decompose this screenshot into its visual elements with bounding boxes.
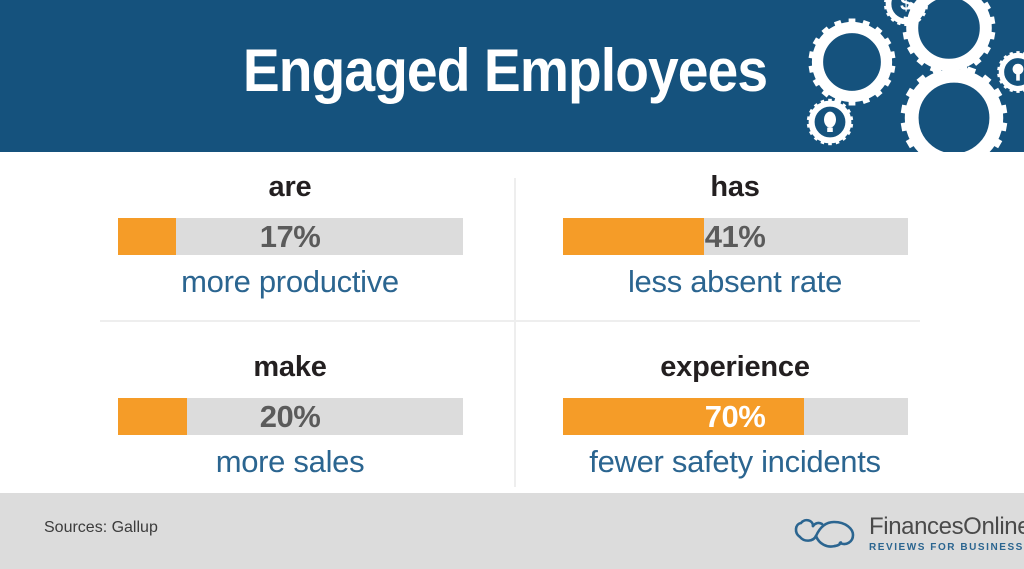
- stat-verb: experience: [530, 350, 940, 384]
- stat-description: more productive: [85, 263, 495, 301]
- gear-key-icon: [997, 51, 1024, 93]
- logo-wordmark: FinancesOnline REVIEWS FOR BUSINESS: [869, 513, 1003, 554]
- stat-value-label: 20%: [118, 398, 463, 435]
- stat-value-label: 17%: [118, 218, 463, 255]
- sources-note: Sources: Gallup: [44, 517, 158, 539]
- grid-divider-horizontal: [100, 320, 920, 322]
- stat-value-label: 41%: [563, 218, 908, 255]
- stat-card-less-absent-rate: has 41% less absent rate: [530, 170, 940, 301]
- header-banner: Engaged Employees: [0, 0, 1024, 152]
- stat-description: more sales: [85, 443, 495, 481]
- gear-lightbulb-icon: [807, 99, 853, 145]
- stats-grid: are 17% more productive has 41% less abs…: [0, 152, 1024, 493]
- gear-icon: [809, 19, 896, 106]
- stat-card-more-sales: make 20% more sales: [85, 350, 495, 481]
- footer-bar: Sources: Gallup FinancesOnline REVIEWS F…: [0, 493, 1024, 569]
- stat-progress-bar: 17%: [118, 218, 463, 255]
- gear-decoration-group: $: [794, 0, 1024, 152]
- logo-tagline: REVIEWS FOR BUSINESS: [869, 541, 1003, 554]
- logo-name: FinancesOnline: [869, 513, 1003, 540]
- stat-progress-bar: 70%: [563, 398, 908, 435]
- stat-description: fewer safety incidents: [530, 443, 940, 481]
- stat-verb: are: [85, 170, 495, 204]
- cloud-infinity-logo-icon: [793, 515, 865, 553]
- gear-dollar-icon: $: [884, 0, 928, 26]
- stat-verb: make: [85, 350, 495, 384]
- stat-description: less absent rate: [530, 263, 940, 301]
- svg-text:$: $: [900, 0, 912, 15]
- gear-icon: [903, 0, 996, 74]
- gear-icon: [901, 65, 1008, 152]
- stat-card-fewer-safety-incidents: experience 70% fewer safety incidents: [530, 350, 940, 481]
- stat-verb: has: [530, 170, 940, 204]
- stat-value-label: 70%: [563, 398, 908, 435]
- infographic-root: Engaged Employees: [0, 0, 1024, 569]
- stat-progress-bar: 41%: [563, 218, 908, 255]
- stat-progress-bar: 20%: [118, 398, 463, 435]
- grid-divider-vertical: [514, 178, 516, 487]
- financesonline-logo[interactable]: FinancesOnline REVIEWS FOR BUSINESS: [793, 505, 1003, 559]
- stat-card-more-productive: are 17% more productive: [85, 170, 495, 301]
